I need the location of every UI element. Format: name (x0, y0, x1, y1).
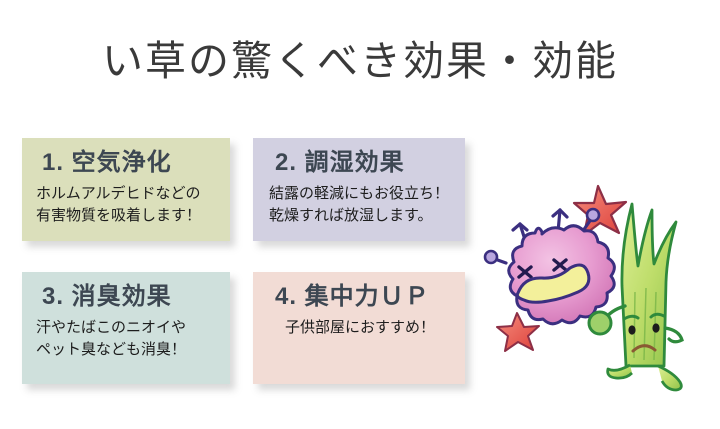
benefit-card-body-line: 乾燥すれば放湿します。 (269, 205, 465, 226)
benefit-card-body-line: ホルムアルデヒドなどの (36, 183, 230, 204)
benefit-card-humidity-control: 2. 調湿効果 結露の軽減にもお役立ち！ 乾燥すれば放湿します。 (253, 138, 465, 241)
benefit-card-air-purification: 1. 空気浄化 ホルムアルデヒドなどの 有害物質を吸着します！ (22, 138, 230, 241)
benefit-card-concentration-up: 4. 集中力ＵＰ 子供部屋におすすめ！ (253, 272, 465, 384)
benefit-card-body-line: ペット臭なども消臭！ (36, 339, 230, 360)
benefit-card-body-line: 汗やたばこのニオイや (36, 317, 230, 338)
igusa-vs-germ-illustration (480, 180, 710, 395)
benefit-card-body-line: 有害物質を吸着します！ (36, 205, 230, 226)
benefit-card-body: ホルムアルデヒドなどの 有害物質を吸着します！ (22, 183, 230, 226)
benefit-card-deodorizing: 3. 消臭効果 汗やたばこのニオイや ペット臭なども消臭！ (22, 272, 230, 384)
benefit-card-body-line: 子供部屋におすすめ！ (269, 317, 451, 338)
benefit-card-heading: 4. 集中力ＵＰ (253, 284, 465, 310)
benefit-card-heading: 1. 空気浄化 (22, 150, 230, 176)
page-title: い草の驚くべき効果・効能 (0, 38, 720, 85)
benefit-card-body: 子供部屋におすすめ！ (253, 317, 465, 338)
benefit-card-body: 結露の軽減にもお役立ち！ 乾燥すれば放湿します。 (253, 183, 465, 226)
benefit-card-body: 汗やたばこのニオイや ペット臭なども消臭！ (22, 317, 230, 360)
benefit-card-heading: 3. 消臭効果 (22, 284, 230, 310)
benefit-card-body-line: 結露の軽減にもお役立ち！ (269, 183, 465, 204)
benefit-card-heading: 2. 調湿効果 (253, 150, 465, 176)
germ-character (509, 226, 615, 324)
infographic-root: い草の驚くべき効果・効能 1. 空気浄化 ホルムアルデヒドなどの 有害物質を吸着… (0, 0, 720, 429)
